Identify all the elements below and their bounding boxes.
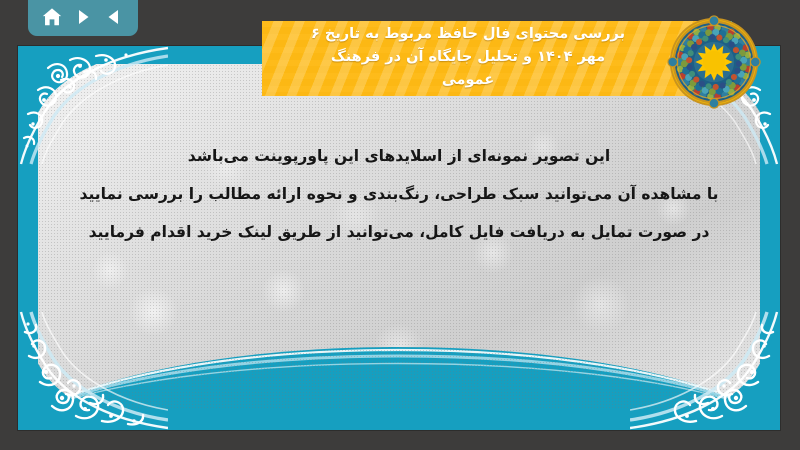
slide-body-text: این تصویر نمونه‌ای از اسلایدهای این پاور… <box>78 138 720 252</box>
home-icon <box>41 6 63 28</box>
title-line-1: بررسی محتوای فال حافظ مربوط به تاریخ ۶ <box>311 26 625 42</box>
back-icon <box>104 7 124 27</box>
slide-title-banner: بررسی محتوای فال حافظ مربوط به تاریخ ۶ م… <box>262 21 732 96</box>
body-line-3: در صورت تمایل به دریافت فایل کامل، می‌تو… <box>78 214 720 252</box>
forward-button[interactable] <box>70 4 96 30</box>
presentation-slide: این تصویر نمونه‌ای از اسلایدهای این پاور… <box>18 46 780 430</box>
body-line-2: با مشاهده آن می‌توانید سبک طراحی، رنگ‌بن… <box>78 176 720 214</box>
home-button[interactable] <box>39 4 65 30</box>
title-banner-body: بررسی محتوای فال حافظ مربوط به تاریخ ۶ م… <box>262 21 706 96</box>
body-line-1: این تصویر نمونه‌ای از اسلایدهای این پاور… <box>78 138 720 176</box>
title-line-3: عمومی <box>442 72 494 88</box>
back-button[interactable] <box>101 4 127 30</box>
decorative-sweep <box>38 290 760 410</box>
navigation-bar <box>28 0 138 36</box>
slide-viewer: این تصویر نمونه‌ای از اسلایدهای این پاور… <box>0 0 800 450</box>
title-banner-cap <box>706 21 732 96</box>
forward-icon <box>73 7 93 27</box>
title-line-2: مهر ۱۴۰۴ و تحلیل جایگاه آن در فرهنگ <box>331 49 605 65</box>
page-title: بررسی محتوای فال حافظ مربوط به تاریخ ۶ م… <box>311 23 625 92</box>
